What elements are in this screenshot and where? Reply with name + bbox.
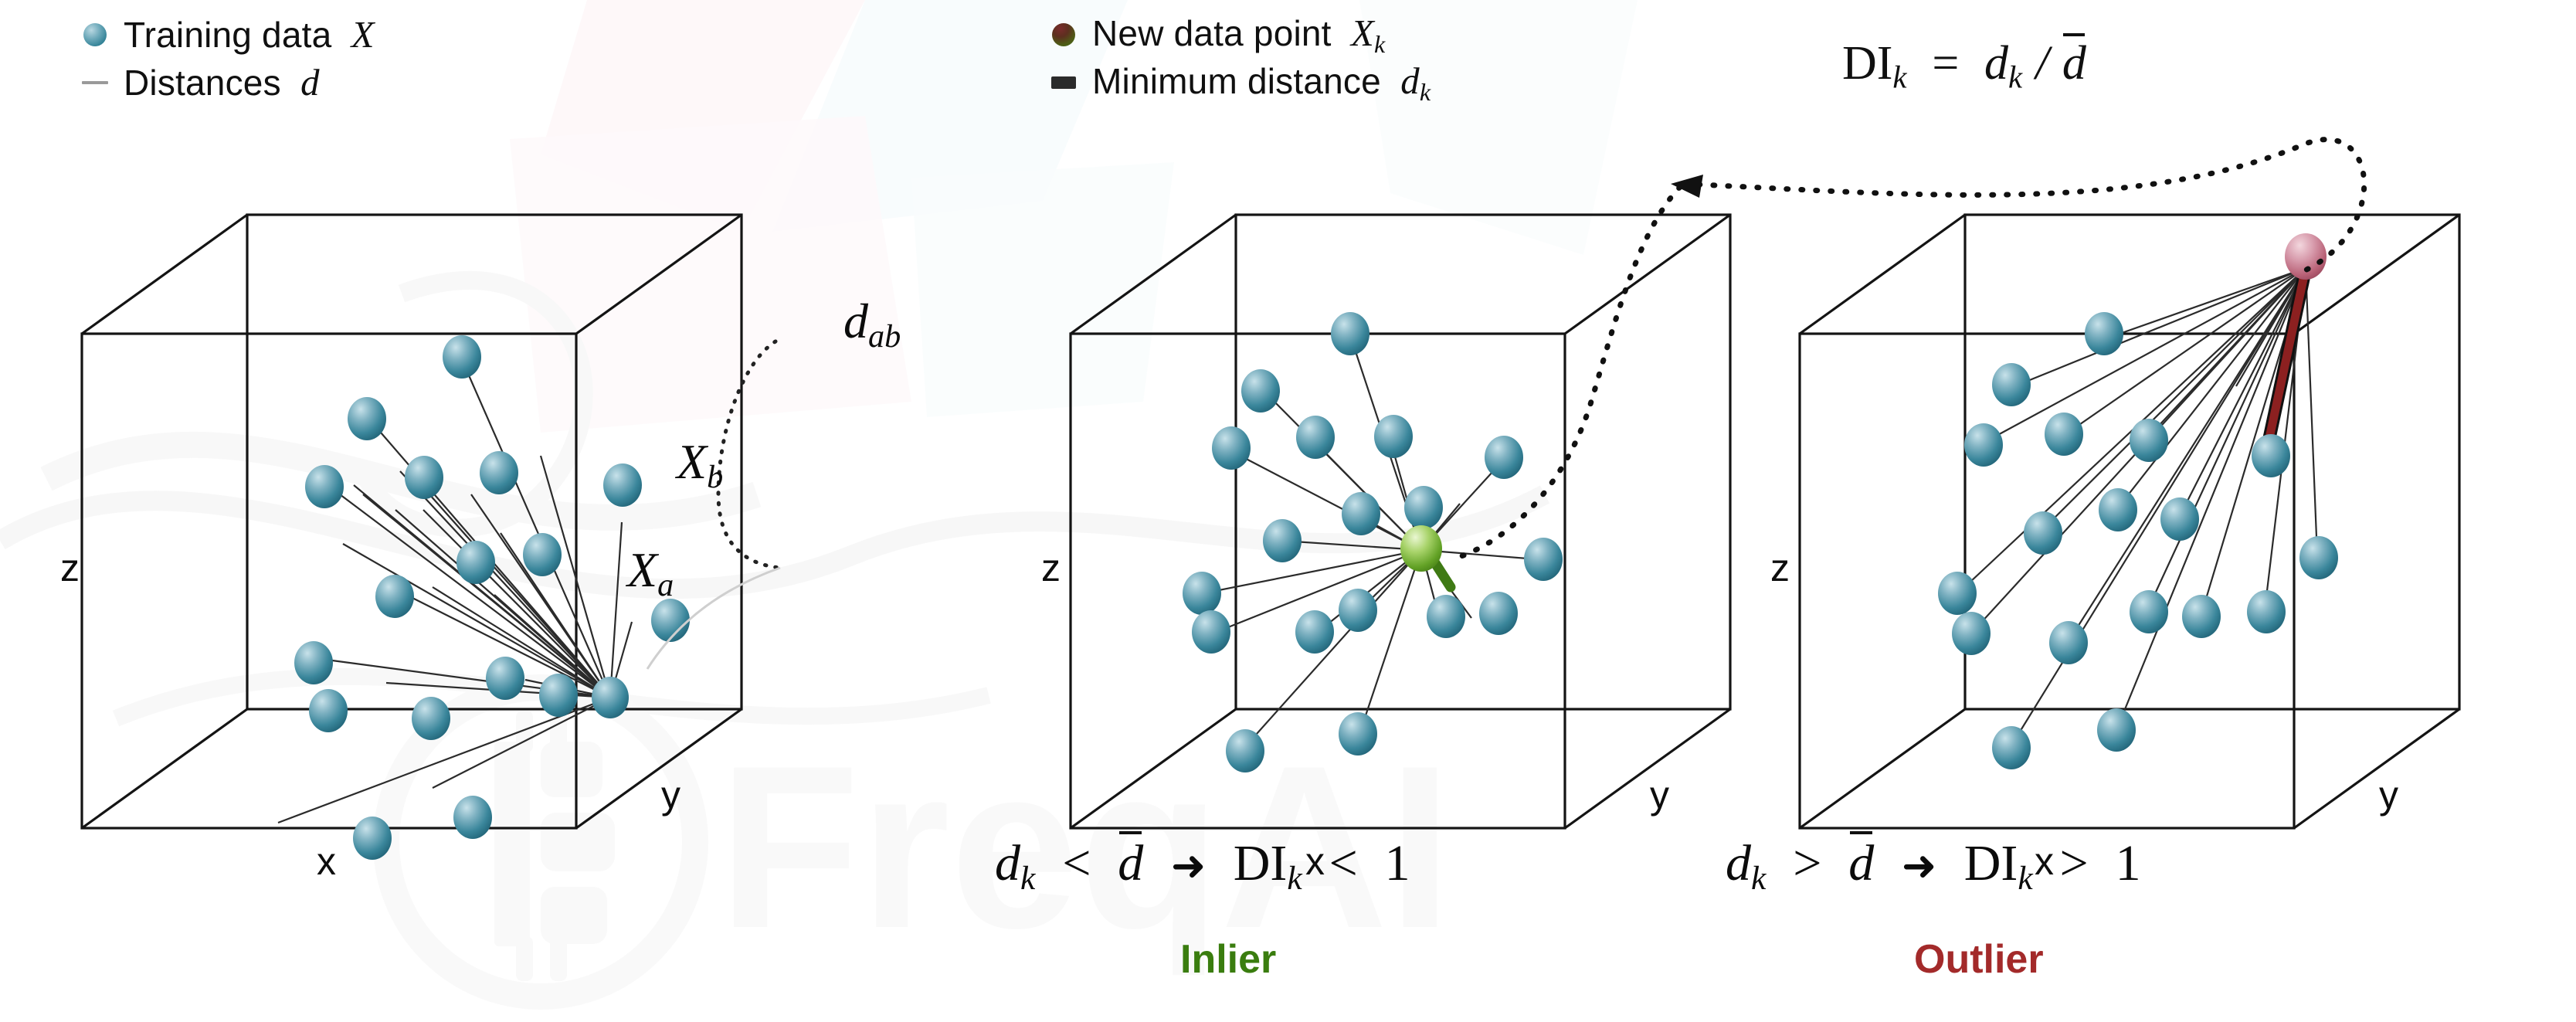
legend-item-distances[interactable]: Distances d xyxy=(66,59,375,107)
leader-arrowhead xyxy=(1671,175,1703,198)
leader-curves xyxy=(1452,140,2364,559)
legend-item-training-data[interactable]: Training data X xyxy=(66,11,375,59)
legend-column-left: Training data X Distances d xyxy=(66,11,375,107)
point-xk-inlier xyxy=(1400,525,1442,572)
point-xa xyxy=(592,677,629,718)
axis-label-x-panel1: x xyxy=(317,839,336,884)
legend-label-minimum-distance: Minimum distance dk xyxy=(1092,59,1431,107)
verdict-inlier: Inlier xyxy=(1180,936,1276,983)
legend-label-distances: Distances d xyxy=(124,61,320,104)
legend-column-right: New data point Xk Minimum distance dk xyxy=(1035,11,1431,107)
leader-dab xyxy=(718,341,780,568)
label-xa: Xa xyxy=(627,541,674,604)
verdict-outlier: Outlier xyxy=(1914,936,2044,983)
training-point-marker xyxy=(66,23,124,46)
caption-equation-outlier: dk > d ➜ DIk > 1 xyxy=(1726,833,2141,898)
distance-lines-outlier xyxy=(1958,268,2317,745)
label-dab: dab xyxy=(843,292,901,355)
distance-lines-training xyxy=(278,363,632,823)
legend-label-training-data: Training data X xyxy=(124,13,375,56)
axis-label-y-panel3: y xyxy=(2379,772,2398,817)
figure-canvas: FreqAI xyxy=(0,0,2576,1022)
axis-label-y-panel2: y xyxy=(1650,772,1669,817)
legend: Training data X Distances d xyxy=(0,0,2576,116)
axis-label-z-panel2: z xyxy=(1041,545,1061,590)
legend-item-minimum-distance[interactable]: Minimum distance dk xyxy=(1035,59,1431,107)
label-xb: Xb xyxy=(677,433,723,496)
cube-panel-training xyxy=(82,215,742,828)
leader-to-outlier xyxy=(1684,140,2364,272)
di-formula: DIk = dk / d xyxy=(1842,36,2086,95)
axis-label-y-panel1: y xyxy=(661,772,680,817)
legend-item-new-data-point[interactable]: New data point Xk xyxy=(1035,11,1431,59)
legend-label-new-data-point: New data point Xk xyxy=(1092,12,1386,59)
cube-panel-inlier xyxy=(1071,215,1730,828)
axis-label-z-panel3: z xyxy=(1770,545,1790,590)
point-xb xyxy=(651,599,690,642)
new-point-marker xyxy=(1035,23,1092,46)
axis-label-z-panel1: z xyxy=(60,545,80,590)
caption-equation-inlier: dk < d ➜ DIk < 1 xyxy=(995,833,1410,898)
training-points-panel2 xyxy=(1183,312,1563,772)
min-distance-marker xyxy=(1035,76,1092,89)
point-xk-outlier xyxy=(2285,233,2327,280)
distance-line-marker xyxy=(66,81,124,84)
